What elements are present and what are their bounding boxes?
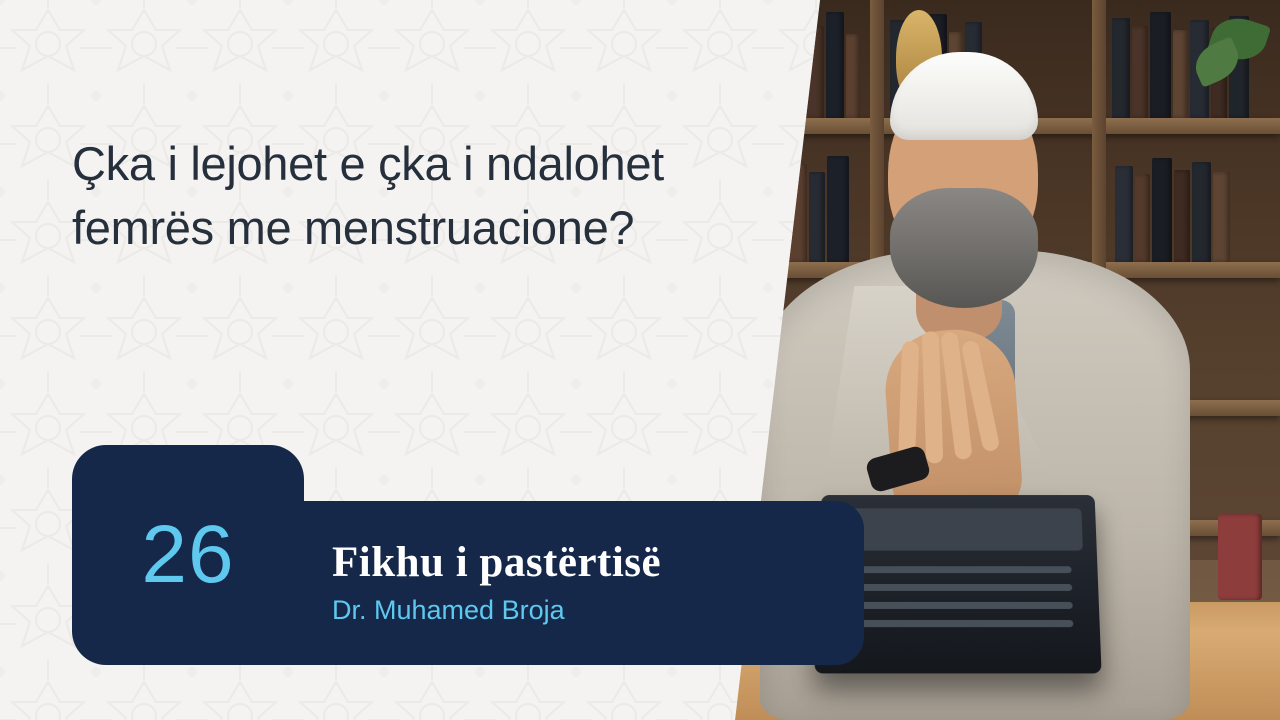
video-thumbnail: Çka i lejohet e çka i ndalohet femrës me…	[0, 0, 1280, 720]
book	[1112, 18, 1130, 118]
series-title: Fikhu i pastërtisë	[332, 540, 864, 585]
book	[1173, 30, 1188, 118]
episode-number-badge: 26	[72, 445, 304, 665]
headline-text: Çka i lejohet e çka i ndalohet femrës me…	[72, 132, 732, 260]
presenter-name: Dr. Muhamed Broja	[332, 595, 864, 626]
finger	[898, 341, 919, 460]
book	[1174, 170, 1190, 262]
finger	[922, 331, 944, 464]
book	[1150, 12, 1171, 118]
tablet-keyboard-row	[843, 602, 1073, 609]
decorative-box	[1218, 514, 1262, 600]
book	[1192, 162, 1211, 262]
book	[827, 156, 849, 262]
book	[846, 34, 860, 118]
book	[1152, 158, 1172, 262]
episode-number: 26	[141, 514, 234, 596]
presenter-beard	[890, 188, 1038, 308]
book	[1115, 166, 1133, 262]
book	[1132, 26, 1148, 118]
book	[1213, 172, 1230, 262]
book	[809, 172, 825, 262]
episode-badge: Fikhu i pastërtisë Dr. Muhamed Broja 26	[72, 445, 872, 665]
book	[1135, 174, 1150, 262]
tablet-keyboard-row	[843, 620, 1074, 627]
book	[826, 12, 844, 118]
tablet-keyboard-row	[844, 584, 1073, 591]
tablet-keyboard-row	[844, 566, 1071, 573]
